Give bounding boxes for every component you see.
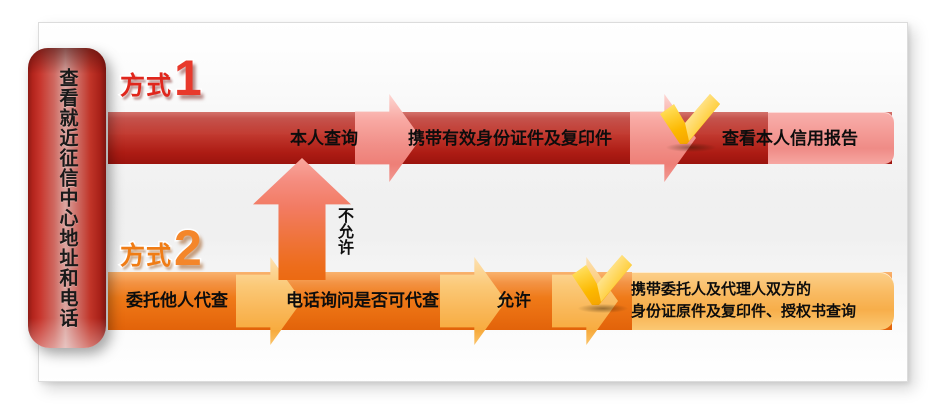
method2-step-2-label: 电话询问是否可代查 [286,290,439,313]
method2-badge-word: 方式 [120,244,172,269]
check-mark-icon [570,253,634,311]
check-mark-icon [658,92,722,150]
method1-step-2-label: 携带有效身份证件及复印件 [408,128,612,151]
method1-badge: 方式 1 [120,58,202,99]
method2-step-1-label: 委托他人代查 [126,290,228,313]
check-mark-shadow [578,304,628,313]
side-panel: 查看就近征信中心地址和电话 [28,48,106,348]
side-panel-text: 查看就近征信中心地址和电话 [28,48,106,348]
check-mark-shadow [666,143,716,152]
flowchart-stage: 本人查询 携带有效身份证件及复印件 查看本人信用报告 [0,0,938,412]
method2-step-3-label: 允许 [497,290,531,313]
method1-badge-number: 1 [174,58,202,99]
method2-badge: 方式 2 [120,228,202,269]
method2-step-4-label: 携带委托人及代理人双方的 身份证原件及复印件、授权书查询 [631,279,856,323]
method1-step-3-label: 查看本人信用报告 [722,128,858,151]
method1-step-1-label: 本人查询 [290,128,358,151]
method1-badge-word: 方式 [120,74,172,99]
branch-label: 不允许 [253,186,351,276]
method2-badge-number: 2 [174,228,202,269]
